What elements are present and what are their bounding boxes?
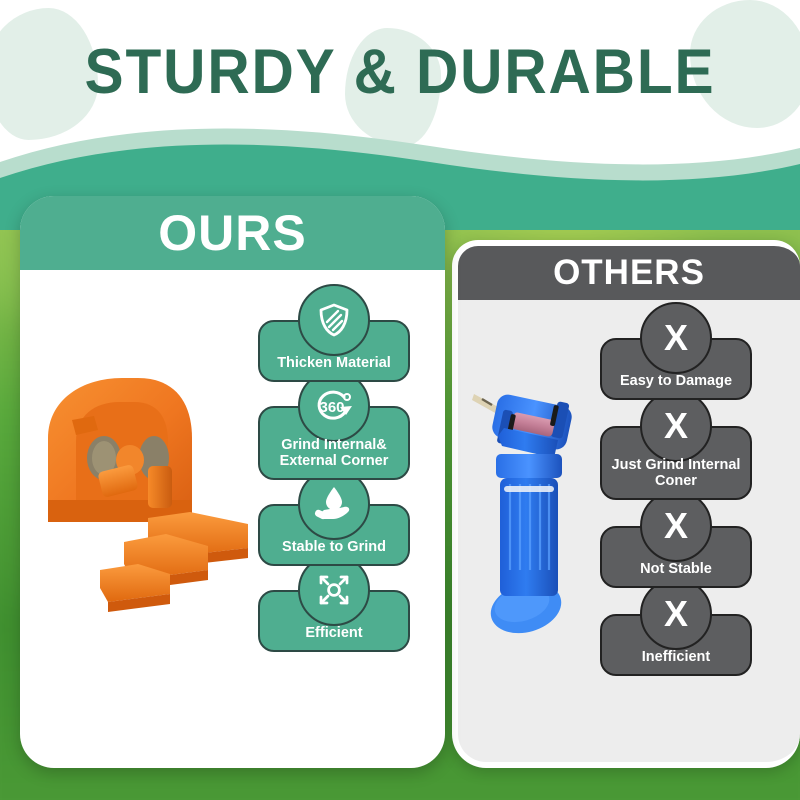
pill-inefficient[interactable]: X Inefficient xyxy=(600,614,752,676)
pill-just-grind-internal[interactable]: X Just Grind Internal Coner xyxy=(600,426,752,500)
others-card-header: OTHERS xyxy=(458,246,800,300)
ours-feature-item[interactable]: 360 Grind Internal& External Corner xyxy=(258,406,410,480)
others-feature-item[interactable]: X Just Grind Internal Coner xyxy=(600,426,752,500)
others-product-image xyxy=(470,380,592,652)
x-mark-icon: X xyxy=(640,302,712,374)
ours-feature-item[interactable]: Efficient xyxy=(258,590,410,652)
pill-grind-corners[interactable]: 360 Grind Internal& External Corner xyxy=(258,406,410,480)
x-mark-label: X xyxy=(664,320,688,356)
page-title: STURDY & DURABLE xyxy=(28,36,772,108)
pill-label: Stable to Grind xyxy=(276,539,392,555)
others-feature-list: X Easy to Damage X Just Grind Internal C… xyxy=(600,338,752,676)
pill-not-stable[interactable]: X Not Stable xyxy=(600,526,752,588)
x-mark-icon: X xyxy=(640,490,712,562)
pill-label: Easy to Damage xyxy=(614,373,738,389)
others-header-label: OTHERS xyxy=(553,253,705,293)
x-mark-label: X xyxy=(664,596,688,632)
x-mark-label: X xyxy=(664,508,688,544)
pill-easy-to-damage[interactable]: X Easy to Damage xyxy=(600,338,752,400)
pill-thicken-material[interactable]: Thicken Material xyxy=(258,320,410,382)
pill-label: Thicken Material xyxy=(271,355,397,371)
pill-label: Grind Internal& External Corner xyxy=(260,437,408,469)
pill-label: Efficient xyxy=(299,625,368,641)
ours-header-label: OURS xyxy=(158,204,306,262)
x-mark-icon: X xyxy=(640,390,712,462)
infographic-stage: STURDY & DURABLE OTHERS OURS xyxy=(0,0,800,800)
pill-label: Just Grind Internal Coner xyxy=(602,457,750,489)
pill-label: Not Stable xyxy=(634,561,718,577)
pill-stable-to-grind[interactable]: Stable to Grind xyxy=(258,504,410,566)
others-feature-item[interactable]: X Inefficient xyxy=(600,614,752,676)
ours-feature-item[interactable]: Thicken Material xyxy=(258,320,410,382)
ours-feature-list: Thicken Material 360 Grind Internal& Ext… xyxy=(258,320,410,652)
ours-card-header: OURS xyxy=(20,196,445,270)
pill-efficient[interactable]: Efficient xyxy=(258,590,410,652)
ours-feature-item[interactable]: Stable to Grind xyxy=(258,504,410,566)
others-feature-item[interactable]: X Not Stable xyxy=(600,526,752,588)
svg-text:360: 360 xyxy=(319,399,344,416)
ours-product-image xyxy=(42,372,270,620)
others-feature-item[interactable]: X Easy to Damage xyxy=(600,338,752,400)
shield-icon xyxy=(298,284,370,356)
x-mark-label: X xyxy=(664,408,688,444)
pill-label: Inefficient xyxy=(636,649,716,665)
x-mark-icon: X xyxy=(640,578,712,650)
